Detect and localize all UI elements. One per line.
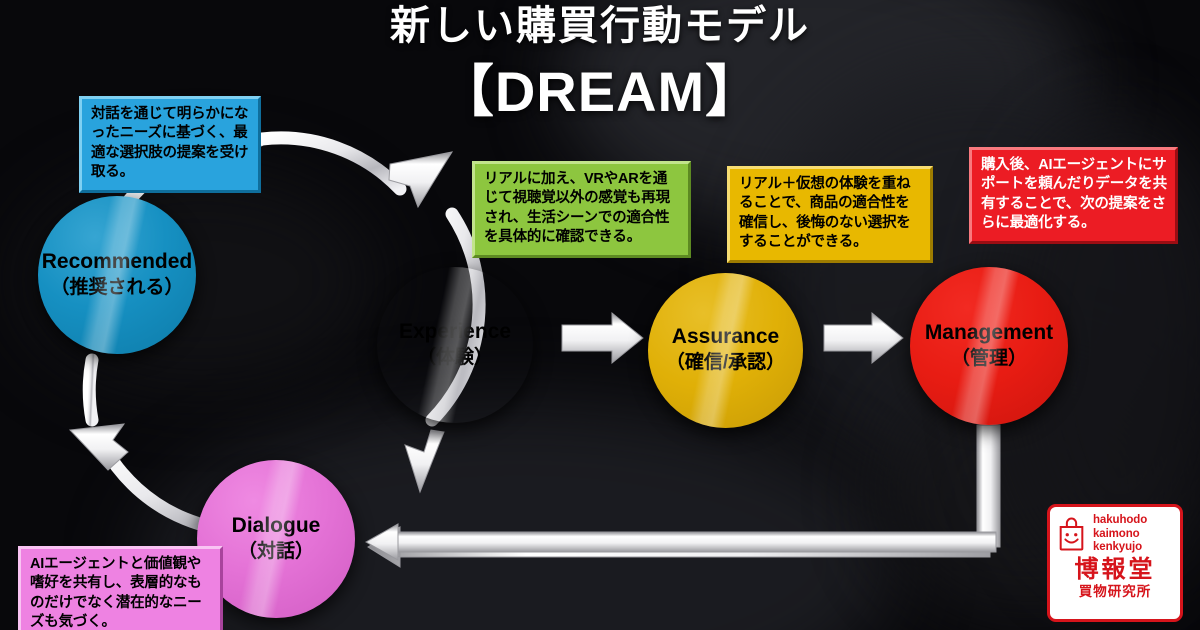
callout-dialogue: AIエージェントと価値観や嗜好を共有し、表層的なものだけでなく潜在的なニーズも気… [18, 546, 223, 630]
hakuhodo-logo: hakuhodo kaimono kenkyujo 博報堂 買物研究所 [1047, 504, 1183, 622]
node-management-label-jp: （管理） [951, 347, 1027, 372]
arrow-management-to-dialogue [366, 425, 1000, 567]
node-recommended-label-en: Recommended [42, 250, 193, 274]
logo-romaji-line2: kaimono [1093, 528, 1147, 542]
logo-romaji-line1: hakuhodo [1093, 514, 1147, 528]
node-assurance-label-en: Assurance [672, 325, 779, 349]
callout-assurance: リアル＋仮想の体験を重ねることで、商品の適合性を確信し、後悔のない選択をすること… [727, 166, 933, 263]
logo-kanji-main: 博報堂 [1075, 558, 1156, 582]
node-recommended[interactable]: Recommended （推奨される） [38, 196, 196, 354]
node-dialogue-label-en: Dialogue [232, 514, 321, 538]
callout-management: 購入後、AIエージェントにサポートを頼んだりデータを共有することで、次の提案をさ… [969, 147, 1178, 244]
node-experience[interactable]: Experience （体験） [377, 267, 533, 423]
node-dialogue-label-jp: （対話） [238, 540, 314, 565]
arrow-experience-to-assurance [562, 313, 643, 363]
logo-romaji-line3: kenkyujo [1093, 541, 1147, 555]
node-management-label-en: Management [925, 321, 1053, 345]
logo-kanji-sub: 買物研究所 [1079, 585, 1152, 599]
logo-romaji: hakuhodo kaimono kenkyujo [1093, 514, 1147, 555]
diagram-canvas: 新しい購買行動モデル 【DREAM】 [0, 0, 1200, 630]
shopping-bag-icon [1056, 517, 1087, 551]
node-experience-label-en: Experience [399, 320, 511, 344]
callout-experience: リアルに加え、VRやARを通じて視聴覚以外の感覚も再現され、生活シーンでの適合性… [472, 161, 691, 258]
title-japanese: 新しい購買行動モデル [0, 0, 1200, 48]
node-recommended-label-jp: （推奨される） [50, 276, 183, 301]
title-english: 【DREAM】 [0, 60, 1200, 124]
node-assurance[interactable]: Assurance （確信/承認） [648, 273, 803, 428]
page-title: 新しい購買行動モデル 【DREAM】 [0, 0, 1200, 124]
node-management[interactable]: Management （管理） [910, 267, 1068, 425]
arrow-assurance-to-management [824, 313, 903, 363]
node-experience-label-jp: （体験） [417, 346, 493, 371]
node-assurance-label-jp: （確信/承認） [666, 351, 785, 376]
